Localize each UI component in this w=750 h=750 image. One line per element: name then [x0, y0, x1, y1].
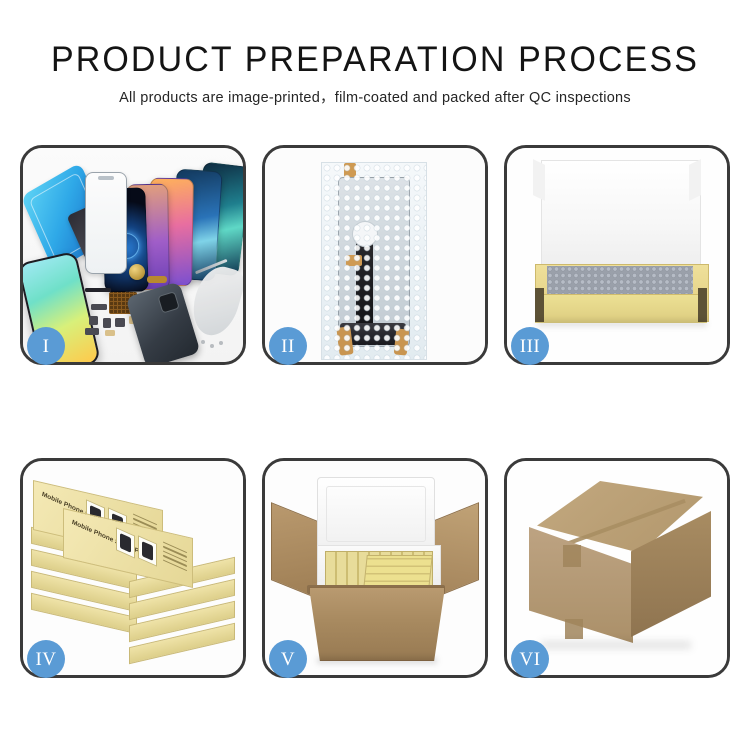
box-window-icon: [116, 527, 135, 558]
step-badge-6: VI: [511, 640, 549, 678]
vibrator-icon: [115, 318, 125, 327]
bracket-icon: [85, 328, 99, 335]
box-shadow: [537, 320, 707, 327]
inner-boxes-icon: [363, 555, 433, 589]
page-subtitle: All products are image-printed，film-coat…: [0, 80, 750, 107]
carton-shadow: [541, 641, 691, 649]
foam-cooler-lid-icon: [317, 477, 435, 551]
step-panel-6: VI: [504, 458, 730, 678]
process-steps-grid: I II: [20, 145, 730, 678]
antenna-strip-icon: [85, 288, 111, 292]
box-stack: Mobile Phone Spare Parts Mobile Phone Sp…: [29, 477, 239, 675]
step-panel-3: III: [504, 145, 730, 365]
connector-icon: [91, 304, 107, 310]
flex-cable-icon: [147, 276, 167, 283]
tweezers-icon: [186, 261, 243, 340]
product-preparation-infographic: PRODUCT PREPARATION PROCESS All products…: [0, 0, 750, 750]
bubble-texture: [322, 163, 426, 359]
tape-patch-icon: [563, 545, 581, 567]
carton-shadow: [317, 657, 437, 664]
header: PRODUCT PREPARATION PROCESS All products…: [0, 0, 750, 107]
box-corner-right-icon: [698, 288, 707, 322]
step-panel-2: II: [262, 145, 488, 365]
step-badge-5: V: [269, 640, 307, 678]
step-badge-3: III: [511, 327, 549, 365]
step-badge-2: II: [269, 327, 307, 365]
step-panel-1: I: [20, 145, 246, 365]
speaker-module-icon: [129, 264, 145, 280]
box-lid-icon: [541, 160, 701, 274]
box-spec-lines: [163, 542, 187, 575]
tape-patch-icon: [565, 619, 583, 639]
screws-icon: [201, 340, 227, 352]
page-title: PRODUCT PREPARATION PROCESS: [11, 0, 739, 80]
step-badge-4: IV: [27, 640, 65, 678]
step-badge-1: I: [27, 327, 65, 365]
carton-front-icon: [309, 587, 445, 661]
lid-flap-left-icon: [533, 159, 545, 201]
phone-backplate-icon: [125, 281, 200, 362]
step-panel-5: V: [262, 458, 488, 678]
box-corner-left-icon: [535, 288, 544, 322]
screw-plate-icon: [105, 330, 115, 336]
kraft-box-front: [535, 294, 707, 323]
box-window-icon: [138, 535, 157, 566]
bubble-wrap-pouch: [321, 162, 427, 360]
lid-flap-right-icon: [689, 159, 701, 201]
step-panel-4: Mobile Phone Spare Parts Mobile Phone Sp…: [20, 458, 246, 678]
tempered-glass-icon: [85, 172, 127, 274]
chip-icon: [89, 316, 98, 325]
camera-module-icon: [103, 318, 111, 328]
